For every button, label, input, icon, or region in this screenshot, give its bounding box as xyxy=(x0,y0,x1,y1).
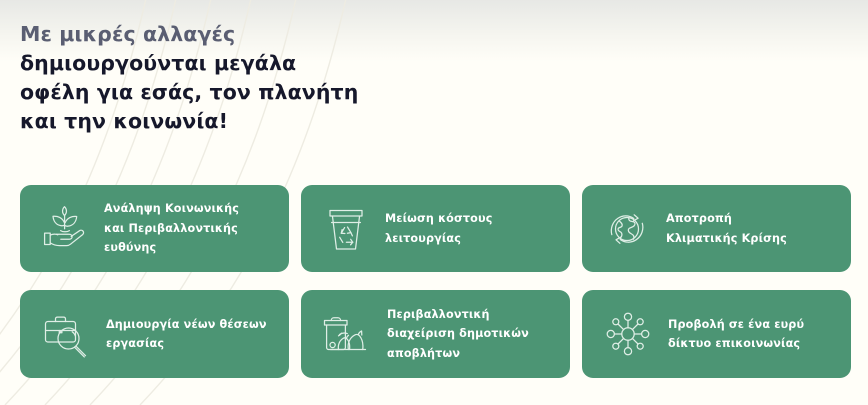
benefit-card-label: Δημιουργία νέων θέσεων εργασίας xyxy=(106,315,279,354)
heading-line-2: δημιουργούνται μεγάλα xyxy=(20,49,540,78)
benefit-card-wide-communication-network[interactable]: Προβολή σε ένα ευρύ δίκτυο επικοινωνίας xyxy=(582,290,851,378)
benefit-card-operating-cost-reduction[interactable]: Μείωση κόστους λειτουργίας xyxy=(301,185,570,272)
benefit-card-label: Ανάληψη Κοινωνικής και Περιβαλλοντικής ε… xyxy=(104,199,279,258)
hand-holding-plant-icon xyxy=(34,200,96,258)
benefit-card-label: Αποτροπή Κλιματικής Κρίσης xyxy=(666,209,841,248)
page-title: Με μικρές αλλαγές δημιουργούνται μεγάλα … xyxy=(20,20,540,136)
network-hub-icon xyxy=(596,305,660,363)
benefit-card-label: Προβολή σε ένα ευρύ δίκτυο επικοινωνίας xyxy=(668,315,841,354)
heading-line-4: και την κοινωνία! xyxy=(20,107,540,136)
globe-recycle-icon xyxy=(596,200,658,258)
benefit-card-new-jobs-creation[interactable]: Δημιουργία νέων θέσεων εργασίας xyxy=(20,290,289,378)
heading-line-3: οφέλη για εσάς, τον πλανήτη xyxy=(20,78,540,107)
benefit-card-grid: Ανάληψη Κοινωνικής και Περιβαλλοντικής ε… xyxy=(20,185,848,378)
recycling-bin-icon xyxy=(315,200,377,258)
waste-bin-bags-icon xyxy=(315,305,379,363)
benefits-section: Με μικρές αλλαγές δημιουργούνται μεγάλα … xyxy=(0,0,868,405)
benefit-card-municipal-waste-management[interactable]: Περιβαλλοντική διαχείριση δημοτικών αποβ… xyxy=(301,290,570,378)
benefit-card-label: Μείωση κόστους λειτουργίας xyxy=(385,209,560,248)
benefit-card-climate-crisis-prevention[interactable]: Αποτροπή Κλιματικής Κρίσης xyxy=(582,185,851,272)
benefit-card-social-environmental-responsibility[interactable]: Ανάληψη Κοινωνικής και Περιβαλλοντικής ε… xyxy=(20,185,289,272)
benefit-card-label: Περιβαλλοντική διαχείριση δημοτικών αποβ… xyxy=(387,305,560,364)
briefcase-magnifier-icon xyxy=(34,305,98,363)
heading-line-1: Με μικρές αλλαγές xyxy=(20,20,540,49)
